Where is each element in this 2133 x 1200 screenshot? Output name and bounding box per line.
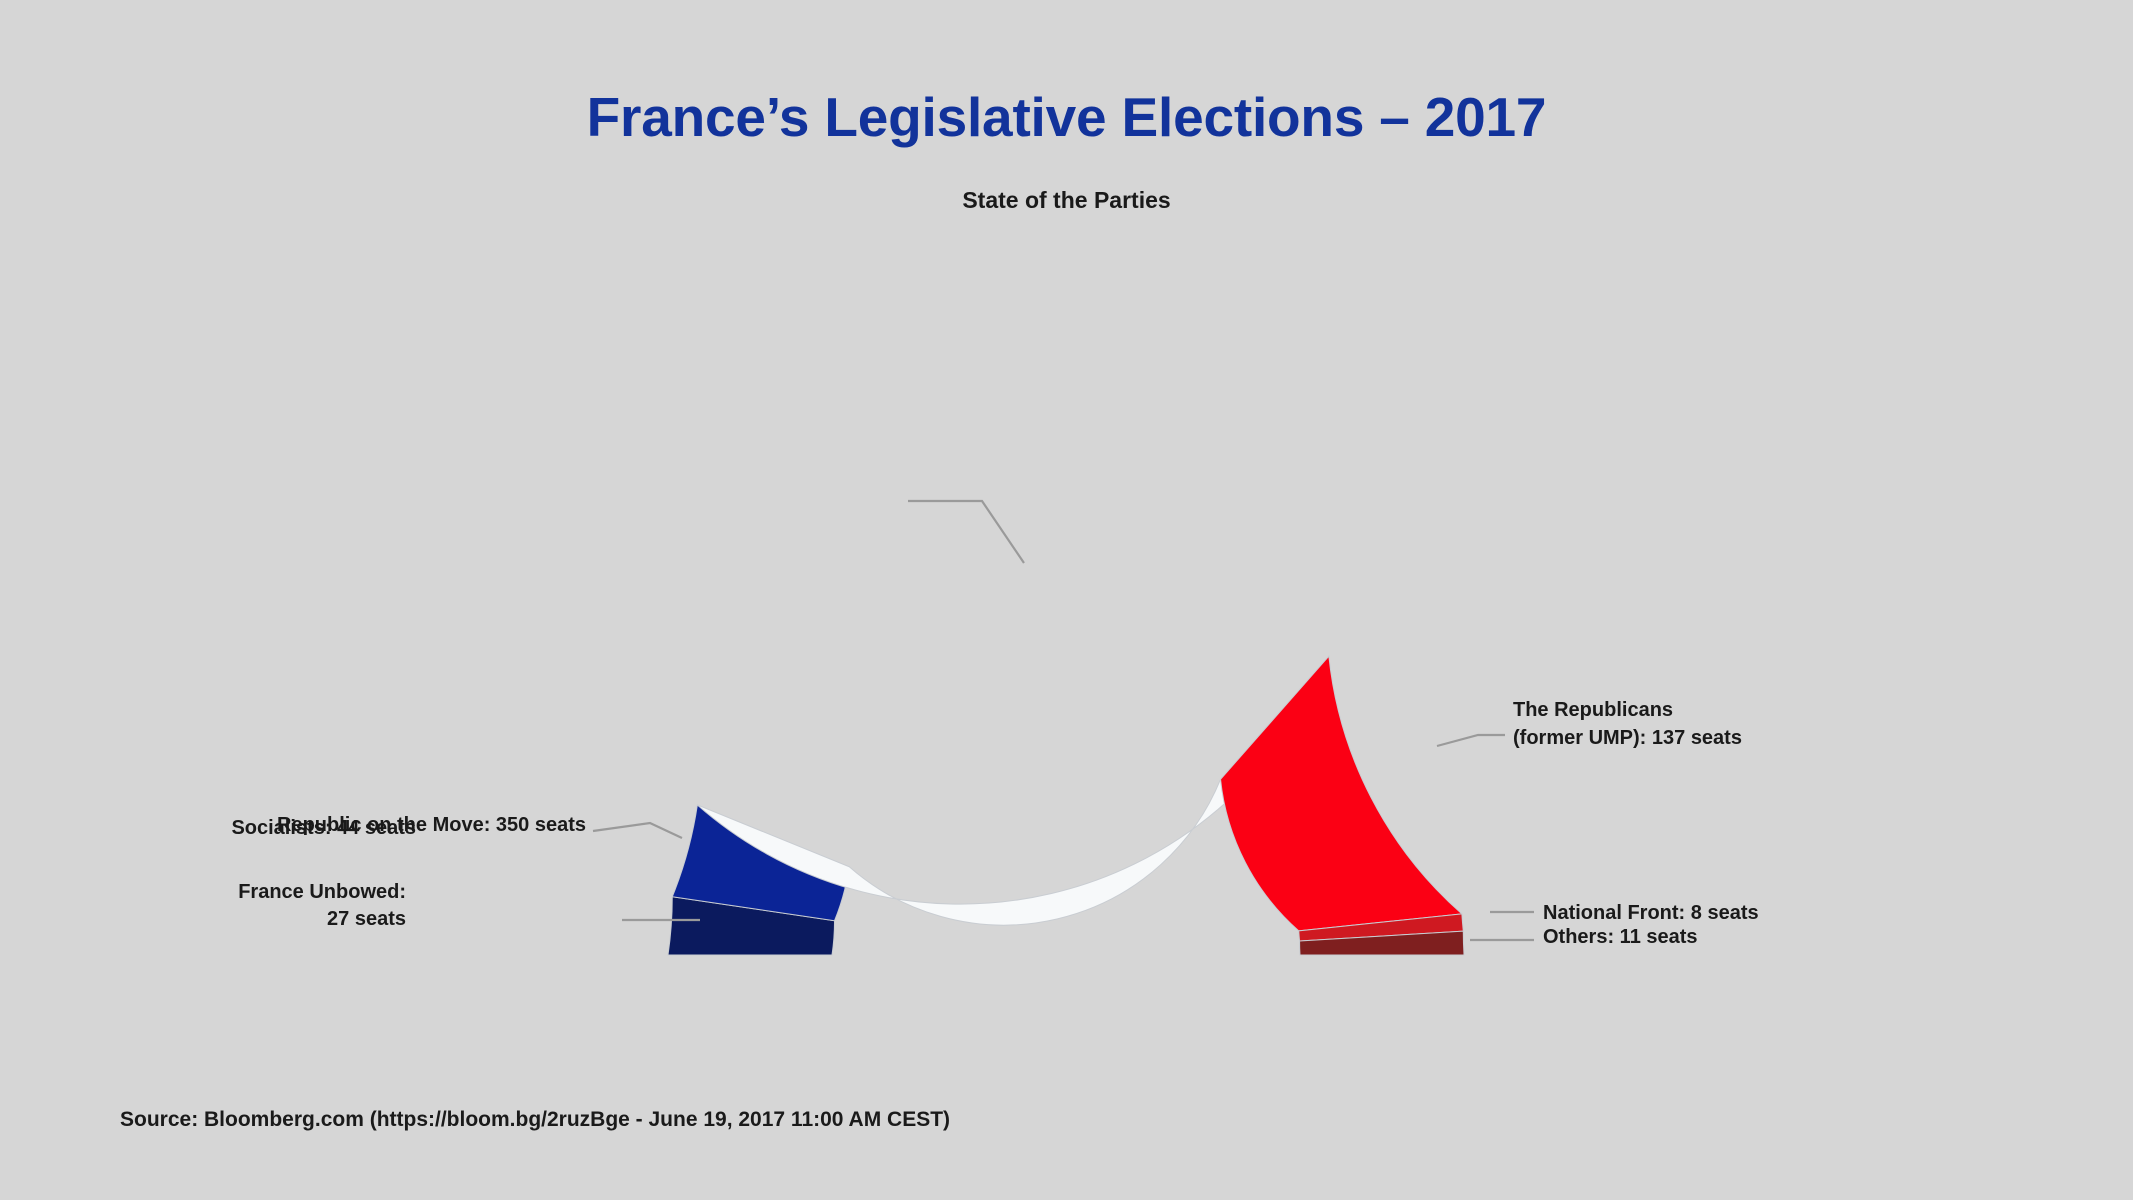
chart-canvas: France’s Legislative Elections – 2017 St… [0,0,2133,1200]
label-national-front: National Front: 8 seats [1543,901,1759,926]
gauge-slices [668,656,1464,955]
label-the-republicans-line1: The Republicans [1513,698,1673,723]
leader-line [593,823,682,838]
source-note: Source: Bloomberg.com (https://bloom.bg/… [120,1108,950,1132]
label-france-unbowed-line1: France Unbowed: [238,880,406,905]
label-the-republicans-line2: (former UMP): 137 seats [1513,726,1742,751]
label-socialists: Socialists: 44 seats [231,816,416,841]
leader-line [1437,735,1505,746]
label-others: Others: 11 seats [1543,925,1698,950]
half-donut-gauge [0,0,2133,1200]
leader-line [908,501,1024,563]
gauge-slice [1221,656,1462,931]
label-france-unbowed-line2: 27 seats [327,907,406,932]
